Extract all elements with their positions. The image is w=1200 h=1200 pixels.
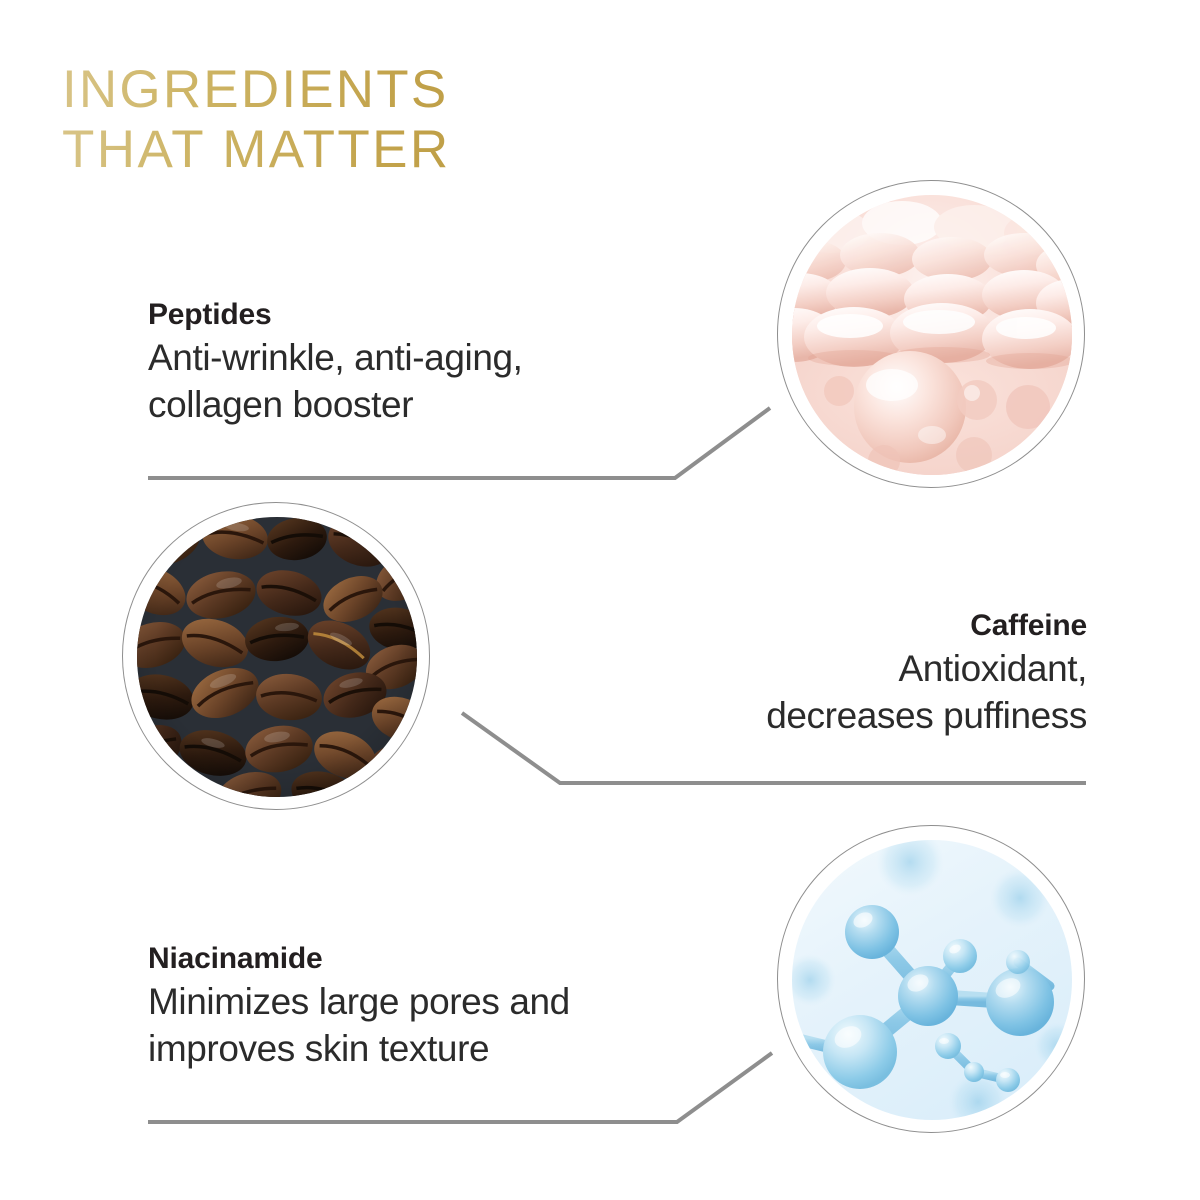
skin-cells-photo xyxy=(792,195,1072,475)
coffee-beans-photo xyxy=(137,517,417,797)
page-title-line-2: THAT MATTER xyxy=(62,120,682,180)
page-title-line-1: INGREDIENTS xyxy=(62,60,682,120)
ingredient-name-caffeine: Caffeine xyxy=(467,607,1087,645)
ingredient-text-niacinamide: Niacinamide Minimizes large pores and im… xyxy=(148,940,808,1072)
ingredients-infographic: INGREDIENTS THAT MATTER Peptides Anti-wr… xyxy=(0,0,1200,1200)
ingredient-text-peptides: Peptides Anti-wrinkle, anti-aging, colla… xyxy=(148,296,768,428)
ingredient-desc-caffeine-line-1: Antioxidant, xyxy=(467,645,1087,692)
page-title: INGREDIENTS THAT MATTER xyxy=(62,60,682,180)
ingredient-image-niacinamide xyxy=(777,825,1085,1133)
molecule-illustration xyxy=(792,840,1072,1120)
ingredient-desc-niacinamide-line-2: improves skin texture xyxy=(148,1025,808,1072)
ingredient-name-niacinamide: Niacinamide xyxy=(148,940,808,978)
ingredient-desc-peptides-line-2: collagen booster xyxy=(148,381,768,428)
ingredient-desc-niacinamide-line-1: Minimizes large pores and xyxy=(148,978,808,1025)
ingredient-image-caffeine xyxy=(122,502,430,810)
ingredient-image-peptides xyxy=(777,180,1085,488)
ingredient-text-caffeine: Caffeine Antioxidant, decreases puffines… xyxy=(467,607,1087,739)
ingredient-name-peptides: Peptides xyxy=(148,296,768,334)
ingredient-desc-caffeine-line-2: decreases puffiness xyxy=(467,692,1087,739)
ingredient-desc-peptides-line-1: Anti-wrinkle, anti-aging, xyxy=(148,334,768,381)
